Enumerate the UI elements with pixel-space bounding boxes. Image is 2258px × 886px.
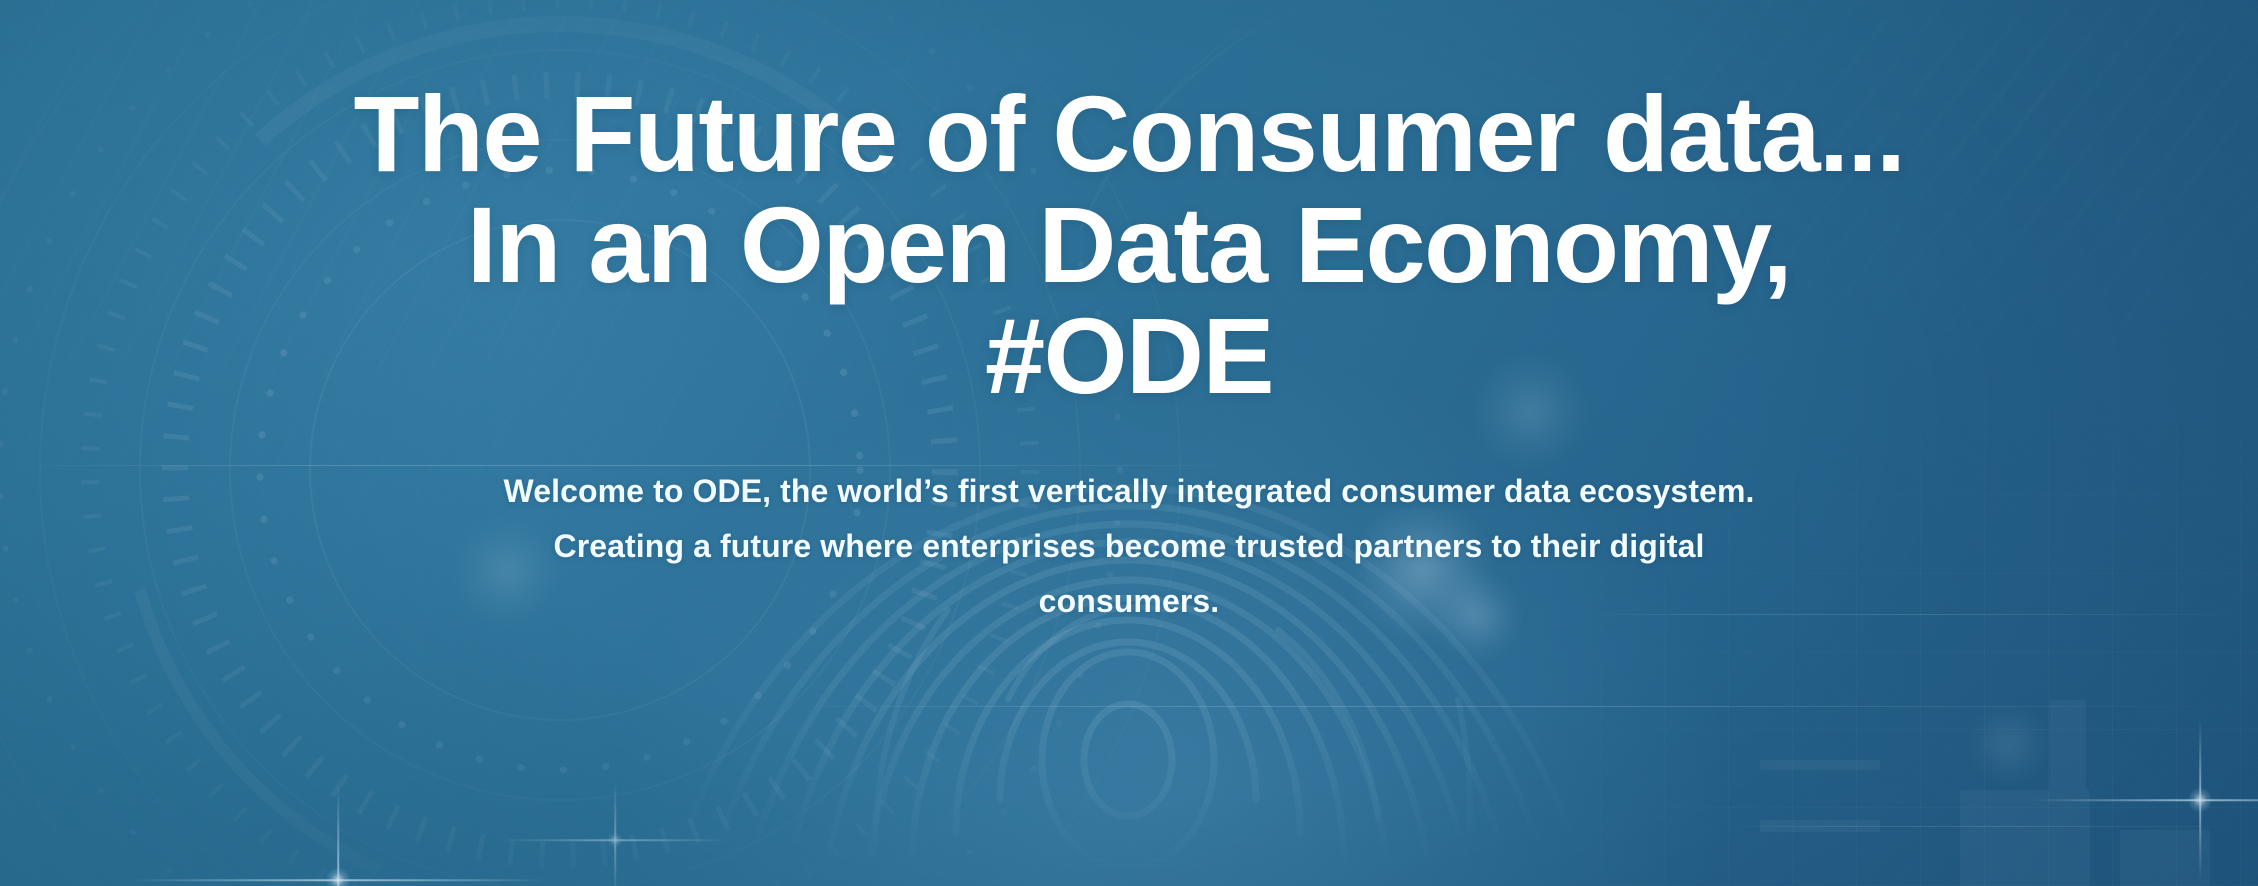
subcopy-line-1: Welcome to ODE, the world’s first vertic… [503, 464, 1754, 519]
subcopy-line-2: Creating a future where enterprises beco… [503, 519, 1754, 574]
headline-line-1: The Future of Consumer data... [353, 78, 1904, 189]
headline-line-3: #ODE [353, 300, 1904, 411]
headline-line-2: In an Open Data Economy, [353, 189, 1904, 300]
hero-content: The Future of Consumer data... In an Ope… [0, 0, 2258, 886]
hero-headline: The Future of Consumer data... In an Ope… [353, 78, 1904, 412]
subcopy-line-3: consumers. [503, 574, 1754, 629]
hero-subcopy: Welcome to ODE, the world’s first vertic… [503, 464, 1754, 629]
hero-banner: The Future of Consumer data... In an Ope… [0, 0, 2258, 886]
